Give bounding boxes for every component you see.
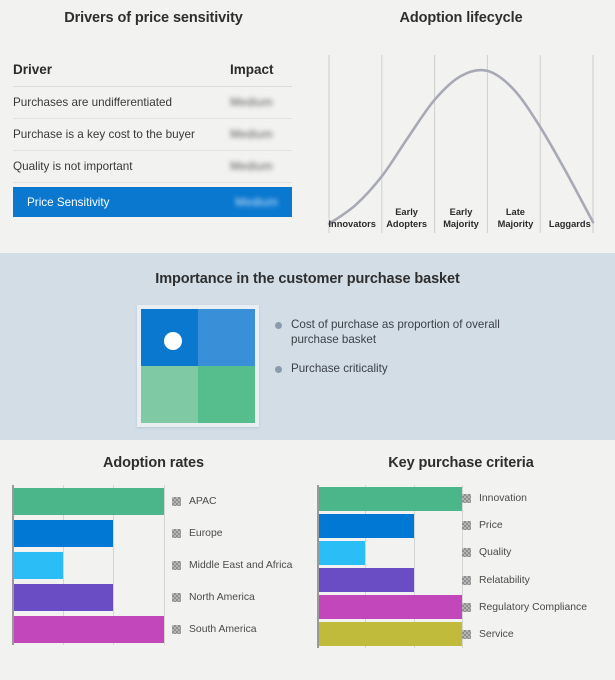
bar[interactable] [14,616,165,643]
cell-driver: Quality is not important [13,160,133,173]
adoption-rates-legend: APACEuropeMiddle East and AfricaNorth Am… [172,485,292,645]
cell-driver: Purchase is a key cost to the buyer [13,128,195,141]
legend-swatch-icon [462,576,471,585]
matrix-quadrant-top-right[interactable] [198,309,255,366]
legend-swatch-icon [462,548,471,557]
legend-item[interactable]: Middle East and Africa [172,549,292,581]
lifecycle-axis-labels: Innovators Early Adopters Early Majority… [325,196,597,232]
column-header-driver: Driver [13,62,52,77]
bar[interactable] [319,568,414,592]
axis-tick-laggards: Laggards [543,196,597,232]
bullet-icon [275,322,282,329]
legend-swatch-icon [462,603,471,612]
matrix-quadrant-bottom-left[interactable] [141,366,198,423]
lifecycle-panel: Adoption lifecycle Innovators Early Adop… [307,0,615,253]
legend-label: Middle East and Africa [189,560,292,571]
legend-swatch-icon [172,625,181,634]
legend-item[interactable]: North America [172,581,292,613]
cell-driver: Purchases are undifferentiated [13,96,172,109]
legend-item[interactable]: Price [462,512,587,539]
legend-label: South America [189,624,257,635]
table-row[interactable]: Quality is not important Medium [13,151,292,183]
legend-swatch-icon [172,593,181,602]
basket-legend: Cost of purchase as proportion of overal… [275,317,575,390]
axis-tick-late-majority: Late Majority [488,196,542,232]
bar[interactable] [14,488,165,515]
legend-label: Purchase criticality [291,361,388,376]
adoption-rates-panel: Adoption rates APACEuropeMiddle East and… [0,440,307,680]
key-purchase-criteria-panel: Key purchase criteria InnovationPriceQua… [307,440,615,680]
legend-label: Innovation [479,493,527,504]
legend-label: Price [479,520,503,531]
drivers-table: Driver Impact Purchases are undifferenti… [13,62,292,217]
legend-label: Relatability [479,575,530,586]
drivers-title: Drivers of price sensitivity [0,10,307,26]
basket-panel: Importance in the customer purchase bask… [0,253,615,440]
adoption-rates-title: Adoption rates [0,455,307,471]
table-header-row: Driver Impact [13,62,292,87]
bar[interactable] [14,552,63,579]
cell-impact: Medium [230,96,292,109]
legend-swatch-icon [172,529,181,538]
matrix-position-marker[interactable] [164,332,182,350]
legend-item[interactable]: Service [462,621,587,648]
legend-item[interactable]: APAC [172,485,292,517]
legend-label: Service [479,629,514,640]
legend-item[interactable]: Quality [462,539,587,566]
legend-item: Cost of purchase as proportion of overal… [275,317,575,347]
legend-label: APAC [189,496,217,507]
legend-swatch-icon [172,497,181,506]
table-row[interactable]: Purchase is a key cost to the buyer Medi… [13,119,292,151]
table-row[interactable]: Purchases are undifferentiated Medium [13,87,292,119]
legend-label: Cost of purchase as proportion of overal… [291,317,541,347]
column-header-impact: Impact [230,62,292,77]
legend-item[interactable]: Innovation [462,485,587,512]
legend-label: Quality [479,547,511,558]
cell-impact: Medium [230,160,292,173]
legend-item[interactable]: Europe [172,517,292,549]
adoption-rates-chart [12,485,164,645]
legend-item[interactable]: Relatability [462,566,587,593]
axis-tick-innovators: Innovators [325,196,379,232]
bar[interactable] [319,487,463,511]
table-row-selected[interactable]: Price Sensitivity Medium [13,187,292,217]
legend-swatch-icon [462,494,471,503]
cell-impact: Medium [230,128,292,141]
bar[interactable] [14,584,114,611]
legend-item[interactable]: Regulatory Compliance [462,594,587,621]
bullet-icon [275,366,282,373]
bar[interactable] [14,520,114,547]
legend-label: Regulatory Compliance [479,602,587,613]
cell-driver: Price Sensitivity [27,196,110,209]
bar[interactable] [319,622,463,646]
key-purchase-criteria-chart [317,485,462,648]
bar[interactable] [319,541,366,565]
legend-item: Purchase criticality [275,361,575,376]
legend-swatch-icon [462,521,471,530]
key-purchase-criteria-title: Key purchase criteria [307,455,615,471]
chart-gridline [164,485,165,645]
legend-swatch-icon [462,630,471,639]
lifecycle-title: Adoption lifecycle [307,10,615,26]
key-purchase-criteria-legend: InnovationPriceQualityRelatabilityRegula… [462,485,587,648]
drivers-panel: Drivers of price sensitivity Driver Impa… [0,0,307,253]
bar[interactable] [319,595,463,619]
basket-title: Importance in the customer purchase bask… [0,271,615,287]
cell-impact: Medium [235,196,278,209]
purchase-basket-matrix[interactable] [137,305,259,427]
legend-label: North America [189,592,255,603]
axis-tick-early-adopters: Early Adopters [379,196,433,232]
legend-item[interactable]: South America [172,613,292,645]
legend-label: Europe [189,528,223,539]
bar[interactable] [319,514,414,538]
matrix-grid [141,309,255,423]
matrix-quadrant-bottom-right[interactable] [198,366,255,423]
legend-swatch-icon [172,561,181,570]
axis-tick-early-majority: Early Majority [434,196,488,232]
